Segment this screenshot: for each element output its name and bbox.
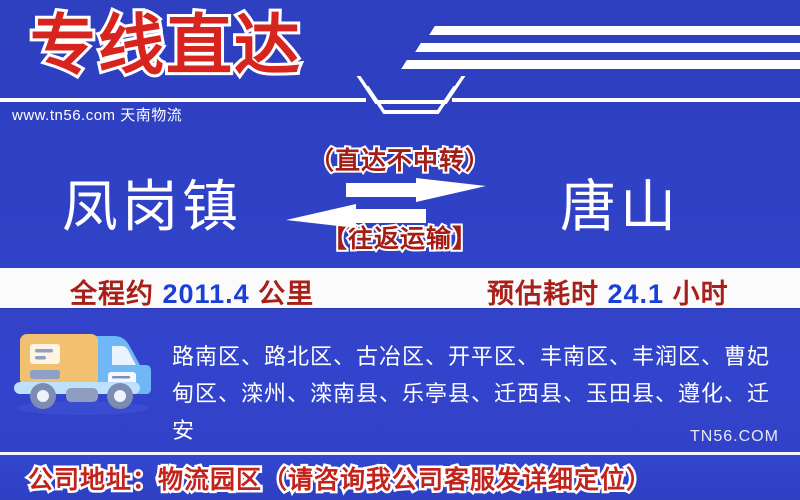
footer-bar: 公司地址：物流园区（请咨询我公司客服发详细定位） — [0, 452, 800, 500]
watermark-label: TN56.COM — [690, 428, 779, 446]
delivery-truck-icon — [8, 316, 158, 416]
metrics-band: 全程约 2011.4 公里 预估耗时 24.1 小时 — [0, 268, 800, 308]
stripe-1 — [429, 26, 800, 35]
stripe-2 — [415, 43, 800, 52]
stripe-3 — [401, 60, 800, 69]
page-title: 专线直达 — [30, 4, 302, 87]
company-address-label: 公司地址：物流园区（请咨询我公司客服发详细定位） — [28, 460, 652, 496]
divider-line-left — [0, 98, 366, 102]
origin-city: 凤岗镇 — [62, 162, 242, 243]
destination-city: 唐山 — [560, 162, 680, 243]
distance-unit: 公里 — [258, 279, 314, 309]
site-url-label: www.tn56.com 天南物流 — [12, 104, 182, 125]
distance-metric: 全程约 2011.4 公里 — [70, 272, 314, 311]
route-note-top: （直达不中转） — [309, 141, 491, 177]
duration-value: 24.1 — [608, 279, 665, 309]
divider-line-right — [452, 98, 800, 102]
duration-metric: 预估耗时 24.1 小时 — [487, 272, 729, 311]
distance-label: 全程约 — [70, 279, 154, 309]
duration-unit: 小时 — [673, 279, 729, 309]
distance-value: 2011.4 — [163, 279, 250, 309]
logistics-route-poster: 专线直达 www.tn56.com 天南物流 凤岗镇 唐山 （直达不中转） 【往… — [0, 0, 800, 500]
duration-label: 预估耗时 — [487, 279, 599, 309]
bidirectional-arrow-icon — [286, 178, 486, 228]
